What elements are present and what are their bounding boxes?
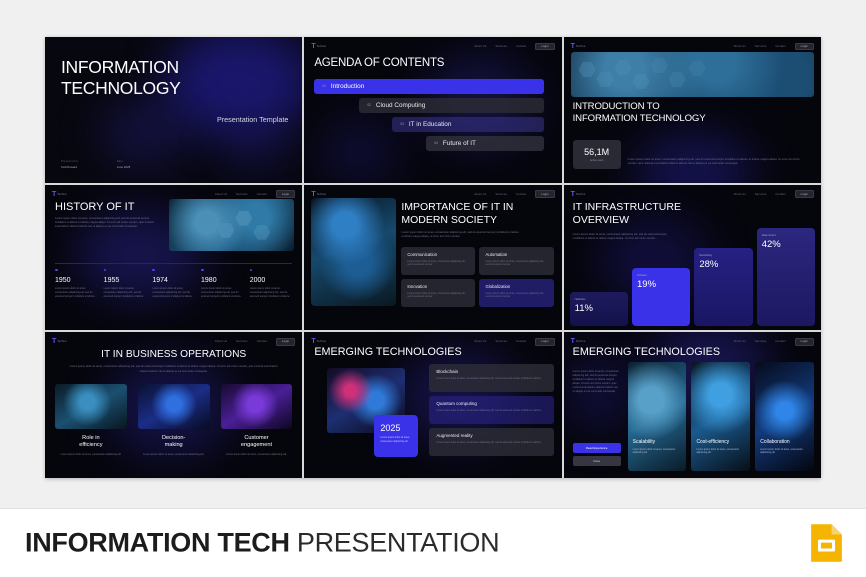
tile-caption: Scalability Lorem ipsum dolor sit amet, … (633, 439, 682, 455)
tile-collaboration[interactable]: Collaboration Lorem ipsum dolor sit amet… (755, 362, 814, 471)
nav-link-services[interactable]: Services (755, 340, 767, 343)
nav-links: About Us Services Contact Login (734, 338, 814, 346)
tile-title: Scalability (633, 439, 682, 445)
nav-link-about[interactable]: About Us (474, 45, 486, 48)
tile-cost-efficiency[interactable]: Cost-efficiency Lorem ipsum dolor sit am… (691, 362, 750, 471)
presented-by-value: TechNoward (61, 165, 79, 169)
card-title-line-1: Role in (82, 435, 99, 441)
card-title: Customer engagement (221, 435, 293, 448)
heading-line-2: TECHNOLOGY (61, 78, 181, 98)
list-item-title: Quantum computing (436, 401, 546, 406)
card-title: Decision- making (138, 435, 210, 448)
logo-text: Techno (576, 193, 586, 196)
list-item-text: Lorem ipsum dolor sit amet, consectetur … (436, 409, 546, 413)
logo-text: Techno (317, 45, 327, 48)
badge-text: Lorem ipsum dolor sit amet, consectetur … (380, 436, 412, 443)
card-title-line-2: efficiency (79, 442, 102, 448)
timeline-entry: 1955 Lorem ipsum dolor sit amet, consect… (104, 269, 147, 299)
heading-line-1: INTRODUCTION TO (573, 101, 660, 112)
tile-caption: Cost-efficiency Lorem ipsum dolor sit am… (696, 439, 745, 455)
nav-login-button[interactable]: Login (795, 43, 814, 51)
nav-links: About Us Services Contact Login (734, 43, 814, 51)
timeline-year: 1950 (55, 277, 98, 284)
timeline-dot-icon (201, 269, 204, 272)
slide-nav: T Techno About Us Services Contact Login (311, 42, 554, 51)
timeline-dot-icon (250, 269, 253, 272)
bar-value: 42% (762, 239, 810, 250)
slide-infrastructure[interactable]: T Techno About Us Services Contact Login… (564, 185, 821, 331)
logo-text: Techno (57, 340, 67, 343)
nav-login-button[interactable]: Login (535, 190, 554, 198)
emerging-list-heading: EMERGING TECHNOLOGIES (314, 346, 461, 358)
importance-body-text: Lorem ipsum dolor sit amet, consectetur … (401, 231, 519, 239)
nav-link-about[interactable]: About Us (215, 193, 227, 196)
agenda-item-future-of-it[interactable]: 04 Future of IT (426, 136, 544, 151)
presented-by-label: Presented by (61, 160, 79, 163)
nav-links: About Us Services Contact Login (734, 190, 814, 198)
logo-text: Techno (317, 193, 327, 196)
card-text: Lorem ipsum dolor sit amet, consectetur … (55, 453, 127, 457)
agenda-item-it-in-education[interactable]: 03 IT in Education (392, 117, 544, 132)
introduction-body-text: Lorem ipsum dolor sit amet, consectetur … (628, 158, 803, 167)
timeline-year: 2000 (250, 277, 293, 284)
slide-nav: T Techno About Us Services Contact Login (311, 190, 554, 199)
bar-value: 19% (637, 279, 685, 290)
nav-link-services[interactable]: Services (755, 45, 767, 48)
nav-links: About Us Services Contact Login (474, 190, 554, 198)
importance-cards: Communication Lorem ipsum dolor sit amet… (401, 247, 553, 307)
slide-emerging-technologies-list[interactable]: T Techno About Us Services Contact Login… (304, 332, 561, 478)
nav-links: About Us Services Contact Login (215, 190, 295, 198)
date-value: June 2025 (117, 165, 131, 169)
card-text: Lorem ipsum dolor sit amet, consectetur … (485, 260, 547, 267)
list-item-title: Blockchain (436, 369, 546, 374)
nav-link-services[interactable]: Services (236, 340, 248, 343)
footer-title: INFORMATION TECH PRESENTATION (25, 528, 499, 559)
slide-emerging-technologies-tiles[interactable]: T Techno About Us Services Contact Login… (564, 332, 821, 478)
hero-image-datacenter (571, 52, 814, 97)
slide-business-operations[interactable]: T Techno About Us Services Contact Login… (45, 332, 302, 478)
logo-mark-icon: T (52, 191, 56, 198)
slide-history[interactable]: T Techno About Us Services Contact Login… (45, 185, 302, 331)
logo-text: Techno (576, 45, 586, 48)
logo[interactable]: T Techno (571, 338, 586, 345)
timeline-text: Lorem ipsum dolor sit amet, consectetur … (250, 287, 293, 299)
stat-value: 56,1M (584, 147, 609, 157)
hexagon-pattern-icon (571, 52, 814, 97)
logo[interactable]: T Techno (571, 43, 586, 50)
introduction-heading: INTRODUCTION TO INFORMATION TECHNOLOGY (573, 101, 706, 125)
nav-link-about[interactable]: About Us (734, 45, 746, 48)
card-title: Automation (485, 252, 547, 257)
nav-link-about[interactable]: About Us (474, 193, 486, 196)
timeline-text: Lorem ipsum dolor sit amet, consectetur … (152, 287, 195, 299)
agenda-item-number: 01 (322, 84, 326, 88)
timeline-dot-icon (55, 269, 58, 272)
date-label: Date (117, 160, 131, 163)
infrastructure-bar-chart: Hardware 11% Software 19% Networking 28%… (570, 222, 815, 326)
nav-link-services[interactable]: Services (496, 340, 508, 343)
heading-line-2: INFORMATION TECHNOLOGY (573, 113, 706, 124)
timeline-year: 1974 (152, 277, 195, 284)
bar-hardware: Hardware 11% (570, 292, 628, 326)
card-title-line-1: Customer (244, 435, 268, 441)
bar-value: 11% (575, 303, 623, 314)
importance-heading: IMPORTANCE OF IT IN MODERN SOCIETY (401, 201, 513, 227)
logo-mark-icon: T (311, 43, 315, 50)
emerging-tiles-actions: Read Experience Close (573, 443, 621, 469)
slide-introduction[interactable]: T Techno About Us Services Contact Login (564, 37, 821, 183)
nav-login-button[interactable]: Login (795, 190, 814, 198)
card-title: Communication (407, 252, 469, 257)
nav-link-contact[interactable]: Contact (775, 340, 785, 343)
card-image-industry (55, 384, 127, 429)
logo-mark-icon: T (311, 338, 315, 345)
card-image-analytics (138, 384, 210, 429)
timeline-text: Lorem ipsum dolor sit amet, consectetur … (201, 287, 244, 299)
card-automation[interactable]: Automation Lorem ipsum dolor sit amet, c… (479, 247, 553, 275)
glow-decoration (220, 117, 290, 172)
logo-mark-icon: T (311, 191, 315, 198)
emerging-tiles: Scalability Lorem ipsum dolor sit amet, … (628, 362, 814, 471)
tile-title: Collaboration (760, 439, 809, 445)
emerging-list: Blockchain Lorem ipsum dolor sit amet, c… (429, 364, 553, 460)
nav-link-about[interactable]: About Us (474, 340, 486, 343)
stat-label: Active users (590, 159, 604, 162)
nav-link-contact[interactable]: Contact (257, 340, 267, 343)
card-role-in-efficiency[interactable]: Role in efficiency Lorem ipsum dolor sit… (55, 384, 127, 456)
card-title-line-2: engagement (241, 442, 272, 448)
slide-title[interactable]: INFORMATION TECHNOLOGY Presentation Temp… (45, 37, 302, 183)
bar-label: Networking (699, 254, 747, 257)
bar-label: Hardware (575, 298, 623, 301)
nav-link-contact[interactable]: Contact (775, 193, 785, 196)
nav-links: About Us Services Contact Login (474, 43, 554, 51)
bar-value: 28% (699, 259, 747, 270)
nav-link-services[interactable]: Services (496, 45, 508, 48)
nav-link-services[interactable]: Services (496, 193, 508, 196)
nav-link-contact[interactable]: Contact (516, 193, 526, 196)
timeline-axis (55, 263, 292, 264)
nav-login-button[interactable]: Login (535, 43, 554, 51)
nav-link-contact[interactable]: Contact (257, 193, 267, 196)
slide-nav: T Techno About Us Services Contact Login (571, 42, 814, 51)
card-decision-making[interactable]: Decision- making Lorem ipsum dolor sit a… (138, 384, 210, 456)
agenda-heading: AGENDA OF CONTENTS (314, 57, 444, 69)
card-text: Lorem ipsum dolor sit amet, consectetur … (221, 453, 293, 457)
heading-line-1: IT INFRASTRUCTURE (573, 201, 681, 213)
screenshot-page: INFORMATION TECHNOLOGY Presentation Temp… (0, 0, 866, 577)
nav-links: About Us Services Contact Login (474, 338, 554, 346)
history-timeline: 1950 Lorem ipsum dolor sit amet, consect… (55, 263, 292, 299)
logo-mark-icon: T (571, 43, 575, 50)
card-image-engagement (221, 384, 293, 429)
stat-card-active-users: 56,1M Active users (573, 140, 621, 169)
list-item-blockchain[interactable]: Blockchain Lorem ipsum dolor sit amet, c… (429, 364, 553, 392)
title-meta: Presented by TechNoward Date June 2025 (61, 160, 130, 169)
emerging-tiles-body-text: Lorem ipsum dolor sit amet, consectetur … (573, 370, 621, 394)
nav-link-about[interactable]: About Us (215, 340, 227, 343)
nav-link-contact[interactable]: Contact (516, 45, 526, 48)
logo[interactable]: T Techno (52, 191, 67, 198)
card-globalization[interactable]: Globalization Lorem ipsum dolor sit amet… (479, 279, 553, 307)
year-badge-2025: 2025 Lorem ipsum dolor sit amet, consect… (374, 415, 418, 457)
card-customer-engagement[interactable]: Customer engagement Lorem ipsum dolor si… (221, 384, 293, 456)
slide-subtitle: Presentation Template (217, 115, 288, 124)
close-button[interactable]: Close (573, 456, 621, 466)
slide-grid: INFORMATION TECHNOLOGY Presentation Temp… (45, 37, 821, 478)
slide-importance[interactable]: T Techno About Us Services Contact Login… (304, 185, 561, 331)
tile-text: Lorem ipsum dolor sit amet, consectetur … (760, 448, 809, 455)
read-experience-button[interactable]: Read Experience (573, 443, 621, 453)
card-title: Role in efficiency (55, 435, 127, 448)
card-title: Globalization (485, 284, 547, 289)
logo-mark-icon: T (571, 338, 575, 345)
slide-title-heading: INFORMATION TECHNOLOGY (61, 57, 181, 98)
card-text: Lorem ipsum dolor sit amet, consectetur … (138, 453, 210, 457)
timeline-year: 1955 (104, 277, 147, 284)
timeline-dot-icon (104, 269, 107, 272)
card-title-line-2: making (165, 442, 183, 448)
bar-data-centers: Data centers 42% (757, 228, 815, 326)
footer-title-bold: INFORMATION TECH (25, 528, 290, 558)
logo-text: Techno (57, 193, 67, 196)
bar-networking: Networking 28% (694, 248, 752, 326)
business-body-text: Lorem ipsum dolor sit amet, consectetur … (67, 365, 280, 373)
history-heading: HISTORY OF IT (55, 201, 134, 213)
business-cards: Role in efficiency Lorem ipsum dolor sit… (55, 384, 292, 456)
agenda-item-cloud-computing[interactable]: 02 Cloud Computing (359, 98, 544, 113)
agenda-item-label: IT in Education (409, 121, 452, 128)
card-title: Innovation (407, 284, 469, 289)
logo[interactable]: T Techno (571, 191, 586, 198)
nav-link-services[interactable]: Services (236, 193, 248, 196)
logo[interactable]: T Techno (52, 338, 67, 345)
business-heading: IT IN BUSINESS OPERATIONS (45, 349, 302, 360)
slide-nav: T Techno About Us Services Contact Login (571, 190, 814, 199)
list-item-text: Lorem ipsum dolor sit amet, consectetur … (436, 441, 546, 445)
timeline-items: 1950 Lorem ipsum dolor sit amet, consect… (55, 263, 292, 299)
slide-agenda[interactable]: T Techno About Us Services Contact Login… (304, 37, 561, 183)
importance-image-machinery (311, 198, 396, 306)
timeline-dot-icon (152, 269, 155, 272)
nav-login-button[interactable]: Login (795, 338, 814, 346)
timeline-text: Lorem ipsum dolor sit amet, consectetur … (55, 287, 98, 299)
date-block: Date June 2025 (117, 160, 131, 169)
glow-decoration (100, 97, 190, 167)
card-title-line-1: Decision- (162, 435, 185, 441)
timeline-entry: 1950 Lorem ipsum dolor sit amet, consect… (55, 269, 98, 299)
list-item-title: Augmented reality (436, 433, 546, 438)
agenda-list: 01 Introduction 02 Cloud Computing 03 IT… (314, 79, 544, 155)
footer-bar: INFORMATION TECH PRESENTATION (0, 508, 866, 577)
tile-title: Cost-efficiency (696, 439, 745, 445)
agenda-item-label: Cloud Computing (376, 102, 425, 109)
nav-link-contact[interactable]: Contact (516, 340, 526, 343)
card-text: Lorem ipsum dolor sit amet, consectetur … (407, 292, 469, 299)
tile-caption: Collaboration Lorem ipsum dolor sit amet… (760, 439, 809, 455)
tile-text: Lorem ipsum dolor sit amet, consectetur … (696, 448, 745, 455)
nav-login-button[interactable]: Login (276, 338, 295, 346)
slide-nav: T Techno About Us Services Contact Login (311, 337, 554, 346)
timeline-text: Lorem ipsum dolor sit amet, consectetur … (104, 287, 147, 299)
list-item-augmented-reality[interactable]: Augmented reality Lorem ipsum dolor sit … (429, 428, 553, 456)
list-item-text: Lorem ipsum dolor sit amet, consectetur … (436, 377, 546, 381)
agenda-item-number: 04 (434, 141, 438, 145)
logo[interactable]: T Techno (311, 43, 326, 50)
nav-links: About Us Services Contact Login (215, 338, 295, 346)
card-innovation[interactable]: Innovation Lorem ipsum dolor sit amet, c… (401, 279, 475, 307)
timeline-entry: 1980 Lorem ipsum dolor sit amet, consect… (201, 269, 244, 299)
card-text: Lorem ipsum dolor sit amet, consectetur … (407, 260, 469, 267)
nav-link-services[interactable]: Services (755, 193, 767, 196)
logo[interactable]: T Techno (311, 338, 326, 345)
heading-line-2: MODERN SOCIETY (401, 214, 497, 226)
bar-software: Software 19% (632, 268, 690, 326)
agenda-item-label: Future of IT (443, 140, 476, 147)
tile-text: Lorem ipsum dolor sit amet, consectetur … (633, 448, 682, 455)
footer-title-light: PRESENTATION (290, 528, 500, 558)
nav-login-button[interactable]: Login (535, 338, 554, 346)
nav-login-button[interactable]: Login (276, 190, 295, 198)
heading-line-1: INFORMATION (61, 57, 179, 77)
presented-by-block: Presented by TechNoward (61, 160, 79, 169)
emerging-tiles-heading: EMERGING TECHNOLOGIES (573, 346, 720, 358)
nav-link-about[interactable]: About Us (734, 340, 746, 343)
nav-link-about[interactable]: About Us (734, 193, 746, 196)
nav-link-contact[interactable]: Contact (775, 45, 785, 48)
agenda-item-introduction[interactable]: 01 Introduction (314, 79, 544, 94)
logo[interactable]: T Techno (311, 191, 326, 198)
heading-line-1: IMPORTANCE OF IT IN (401, 201, 513, 213)
logo-mark-icon: T (52, 338, 56, 345)
timeline-entry: 1974 Lorem ipsum dolor sit amet, consect… (152, 269, 195, 299)
tile-scalability[interactable]: Scalability Lorem ipsum dolor sit amet, … (628, 362, 687, 471)
bar-label: Data centers (762, 234, 810, 237)
google-slides-icon (806, 523, 847, 564)
badge-year: 2025 (380, 423, 412, 433)
slide-nav: T Techno About Us Services Contact Login (571, 337, 814, 346)
history-image-servers (169, 199, 294, 251)
logo-text: Techno (317, 340, 327, 343)
timeline-year: 1980 (201, 277, 244, 284)
logo-mark-icon: T (571, 191, 575, 198)
agenda-item-label: Introduction (331, 83, 364, 90)
slide-nav: T Techno About Us Services Contact Login (52, 190, 295, 199)
card-text: Lorem ipsum dolor sit amet, consectetur … (485, 292, 547, 299)
list-item-quantum-computing[interactable]: Quantum computing Lorem ipsum dolor sit … (429, 396, 553, 424)
bar-label: Software (637, 274, 685, 277)
timeline-entry: 2000 Lorem ipsum dolor sit amet, consect… (250, 269, 293, 299)
slide-nav: T Techno About Us Services Contact Login (52, 337, 295, 346)
card-communication[interactable]: Communication Lorem ipsum dolor sit amet… (401, 247, 475, 275)
history-body-text: Lorem ipsum dolor sit amet, consectetur … (55, 217, 155, 230)
logo-text: Techno (576, 340, 586, 343)
agenda-item-number: 02 (367, 103, 371, 107)
agenda-item-number: 03 (400, 122, 404, 126)
